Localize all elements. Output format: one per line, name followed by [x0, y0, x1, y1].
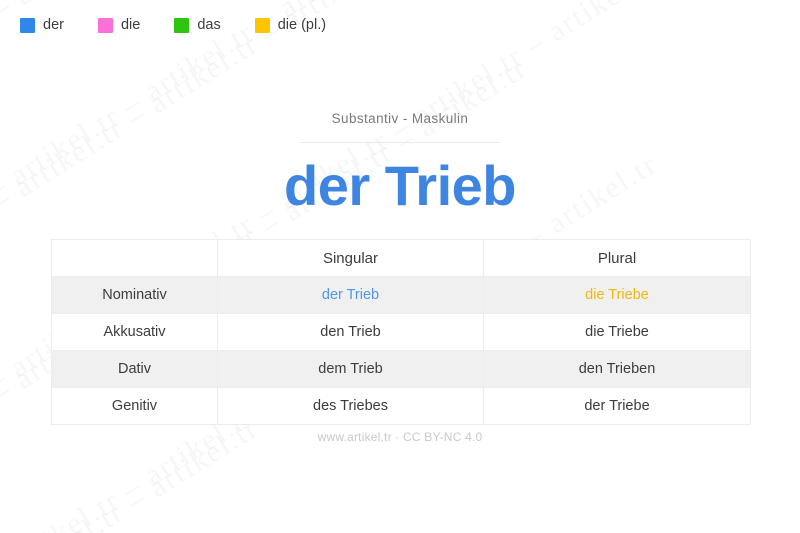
cell-plural-genitiv: der Triebe — [484, 388, 751, 425]
cell-singular-akkusativ: den Trieb — [218, 314, 484, 351]
cell-plural-nominativ: die Triebe — [484, 277, 751, 314]
legend-item-0: der — [20, 18, 64, 33]
legend-label-1: die — [121, 18, 140, 33]
table-row: Nominativder Triebdie Triebe — [52, 277, 751, 314]
cell-singular-genitiv: des Triebes — [218, 388, 484, 425]
table-row: Dativdem Triebden Trieben — [52, 351, 751, 388]
legend-item-2: das — [174, 18, 220, 33]
legend-swatch-die-pl — [255, 18, 270, 33]
word-type-subtitle: Substantiv - Maskulin — [0, 112, 800, 126]
case-label-akkusativ: Akkusativ — [52, 314, 218, 351]
subtitle-divider — [300, 142, 500, 143]
article-color-legend: derdiedasdie (pl.) — [20, 18, 360, 33]
table-body: Nominativder Triebdie TriebeAkkusativden… — [52, 277, 751, 425]
legend-item-1: die — [98, 18, 140, 33]
legend-swatch-das — [174, 18, 189, 33]
legend-item-3: die (pl.) — [255, 18, 326, 33]
case-label-nominativ: Nominativ — [52, 277, 218, 314]
cell-plural-dativ: den Trieben — [484, 351, 751, 388]
column-header-plural: Plural — [484, 240, 751, 277]
cell-singular-dativ: dem Trieb — [218, 351, 484, 388]
cell-singular-nominativ: der Trieb — [218, 277, 484, 314]
cell-plural-akkusativ: die Triebe — [484, 314, 751, 351]
legend-label-3: die (pl.) — [278, 18, 326, 33]
header-block: Substantiv - Maskulin der Trieb — [0, 112, 800, 215]
declension-table: Singular Plural Nominativder Triebdie Tr… — [51, 239, 751, 425]
legend-label-2: das — [197, 18, 220, 33]
column-header-case — [52, 240, 218, 277]
declension-card: derdiedasdie (pl.) Substantiv - Maskulin… — [0, 0, 800, 533]
case-label-dativ: Dativ — [52, 351, 218, 388]
page-title: der Trieb — [0, 157, 800, 216]
legend-label-0: der — [43, 18, 64, 33]
legend-swatch-der — [20, 18, 35, 33]
case-label-genitiv: Genitiv — [52, 388, 218, 425]
table-header-row: Singular Plural — [52, 240, 751, 277]
column-header-singular: Singular — [218, 240, 484, 277]
table-row: Genitivdes Triebesder Triebe — [52, 388, 751, 425]
table-row: Akkusativden Triebdie Triebe — [52, 314, 751, 351]
table-head: Singular Plural — [52, 240, 751, 277]
legend-swatch-die — [98, 18, 113, 33]
footer-attribution: www.artikel.tr · CC BY-NC 4.0 — [0, 430, 800, 444]
